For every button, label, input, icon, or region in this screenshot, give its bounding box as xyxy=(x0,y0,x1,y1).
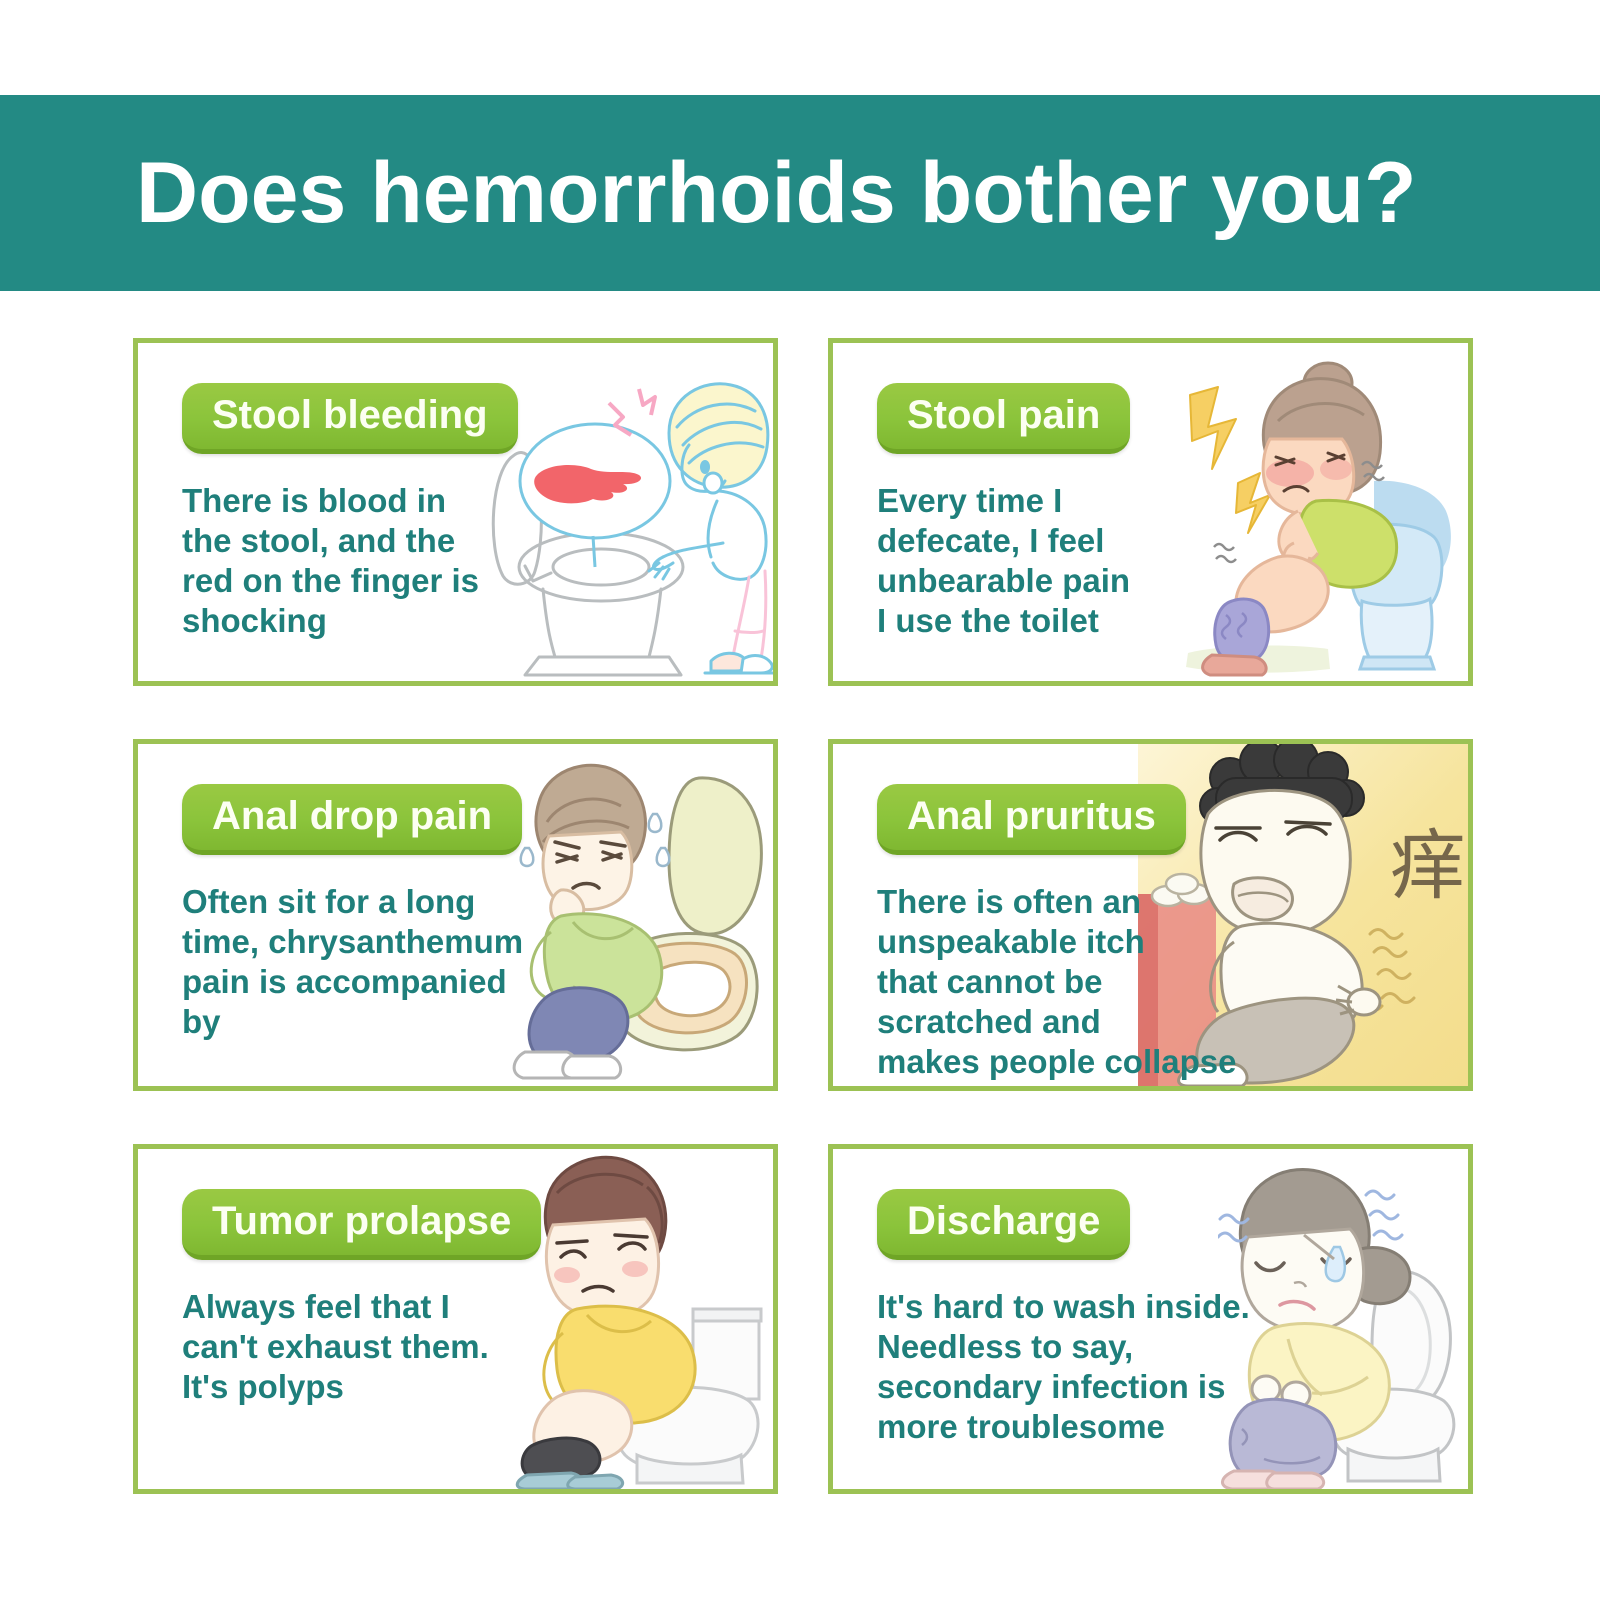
description-stool-pain: Every time I defecate, I feel unbearable… xyxy=(877,481,1247,641)
header-band: Does hemorrhoids bother you? xyxy=(0,95,1600,291)
poster-root: Does hemorrhoids bother you? Stool bleed… xyxy=(0,0,1600,1600)
card-anal-pruritus[interactable]: Anal pruritus There is often an unspeaka… xyxy=(828,739,1473,1091)
badge-stool-bleeding[interactable]: Stool bleeding xyxy=(182,383,518,454)
card-anal-drop-pain[interactable]: Anal drop pain Often sit for a long time… xyxy=(133,739,778,1091)
card-stool-bleeding[interactable]: Stool bleeding There is blood in the sto… xyxy=(133,338,778,686)
badge-anal-drop-pain[interactable]: Anal drop pain xyxy=(182,784,522,855)
description-tumor-prolapse: Always feel that I can't exhaust them. I… xyxy=(182,1287,552,1407)
symptom-card-grid: Stool bleeding There is blood in the sto… xyxy=(133,338,1473,1494)
description-anal-drop-pain: Often sit for a long time, chrysanthemum… xyxy=(182,882,602,1042)
card-stool-pain[interactable]: Stool pain Every time I defecate, I feel… xyxy=(828,338,1473,686)
card-text-block: Stool bleeding There is blood in the sto… xyxy=(182,383,552,641)
card-text-block: Tumor prolapse Always feel that I can't … xyxy=(182,1189,552,1407)
badge-tumor-prolapse[interactable]: Tumor prolapse xyxy=(182,1189,541,1260)
card-text-block: Anal drop pain Often sit for a long time… xyxy=(182,784,602,1042)
badge-stool-pain[interactable]: Stool pain xyxy=(877,383,1130,454)
card-text-block: Discharge It's hard to wash inside. Need… xyxy=(877,1189,1297,1447)
description-discharge: It's hard to wash inside. Needless to sa… xyxy=(877,1287,1297,1447)
card-discharge[interactable]: Discharge It's hard to wash inside. Need… xyxy=(828,1144,1473,1494)
description-anal-pruritus: There is often an unspeakable itch that … xyxy=(877,882,1277,1082)
page-title: Does hemorrhoids bother you? xyxy=(136,150,1417,236)
card-text-block: Anal pruritus There is often an unspeaka… xyxy=(877,784,1277,1082)
badge-discharge[interactable]: Discharge xyxy=(877,1189,1130,1260)
illustration-boy-on-toilet xyxy=(513,1149,773,1489)
card-tumor-prolapse[interactable]: Tumor prolapse Always feel that I can't … xyxy=(133,1144,778,1494)
kanji-itch: 痒 xyxy=(1390,821,1466,910)
description-stool-bleeding: There is blood in the stool, and the red… xyxy=(182,481,552,641)
badge-anal-pruritus[interactable]: Anal pruritus xyxy=(877,784,1186,855)
card-text-block: Stool pain Every time I defecate, I feel… xyxy=(877,383,1247,641)
